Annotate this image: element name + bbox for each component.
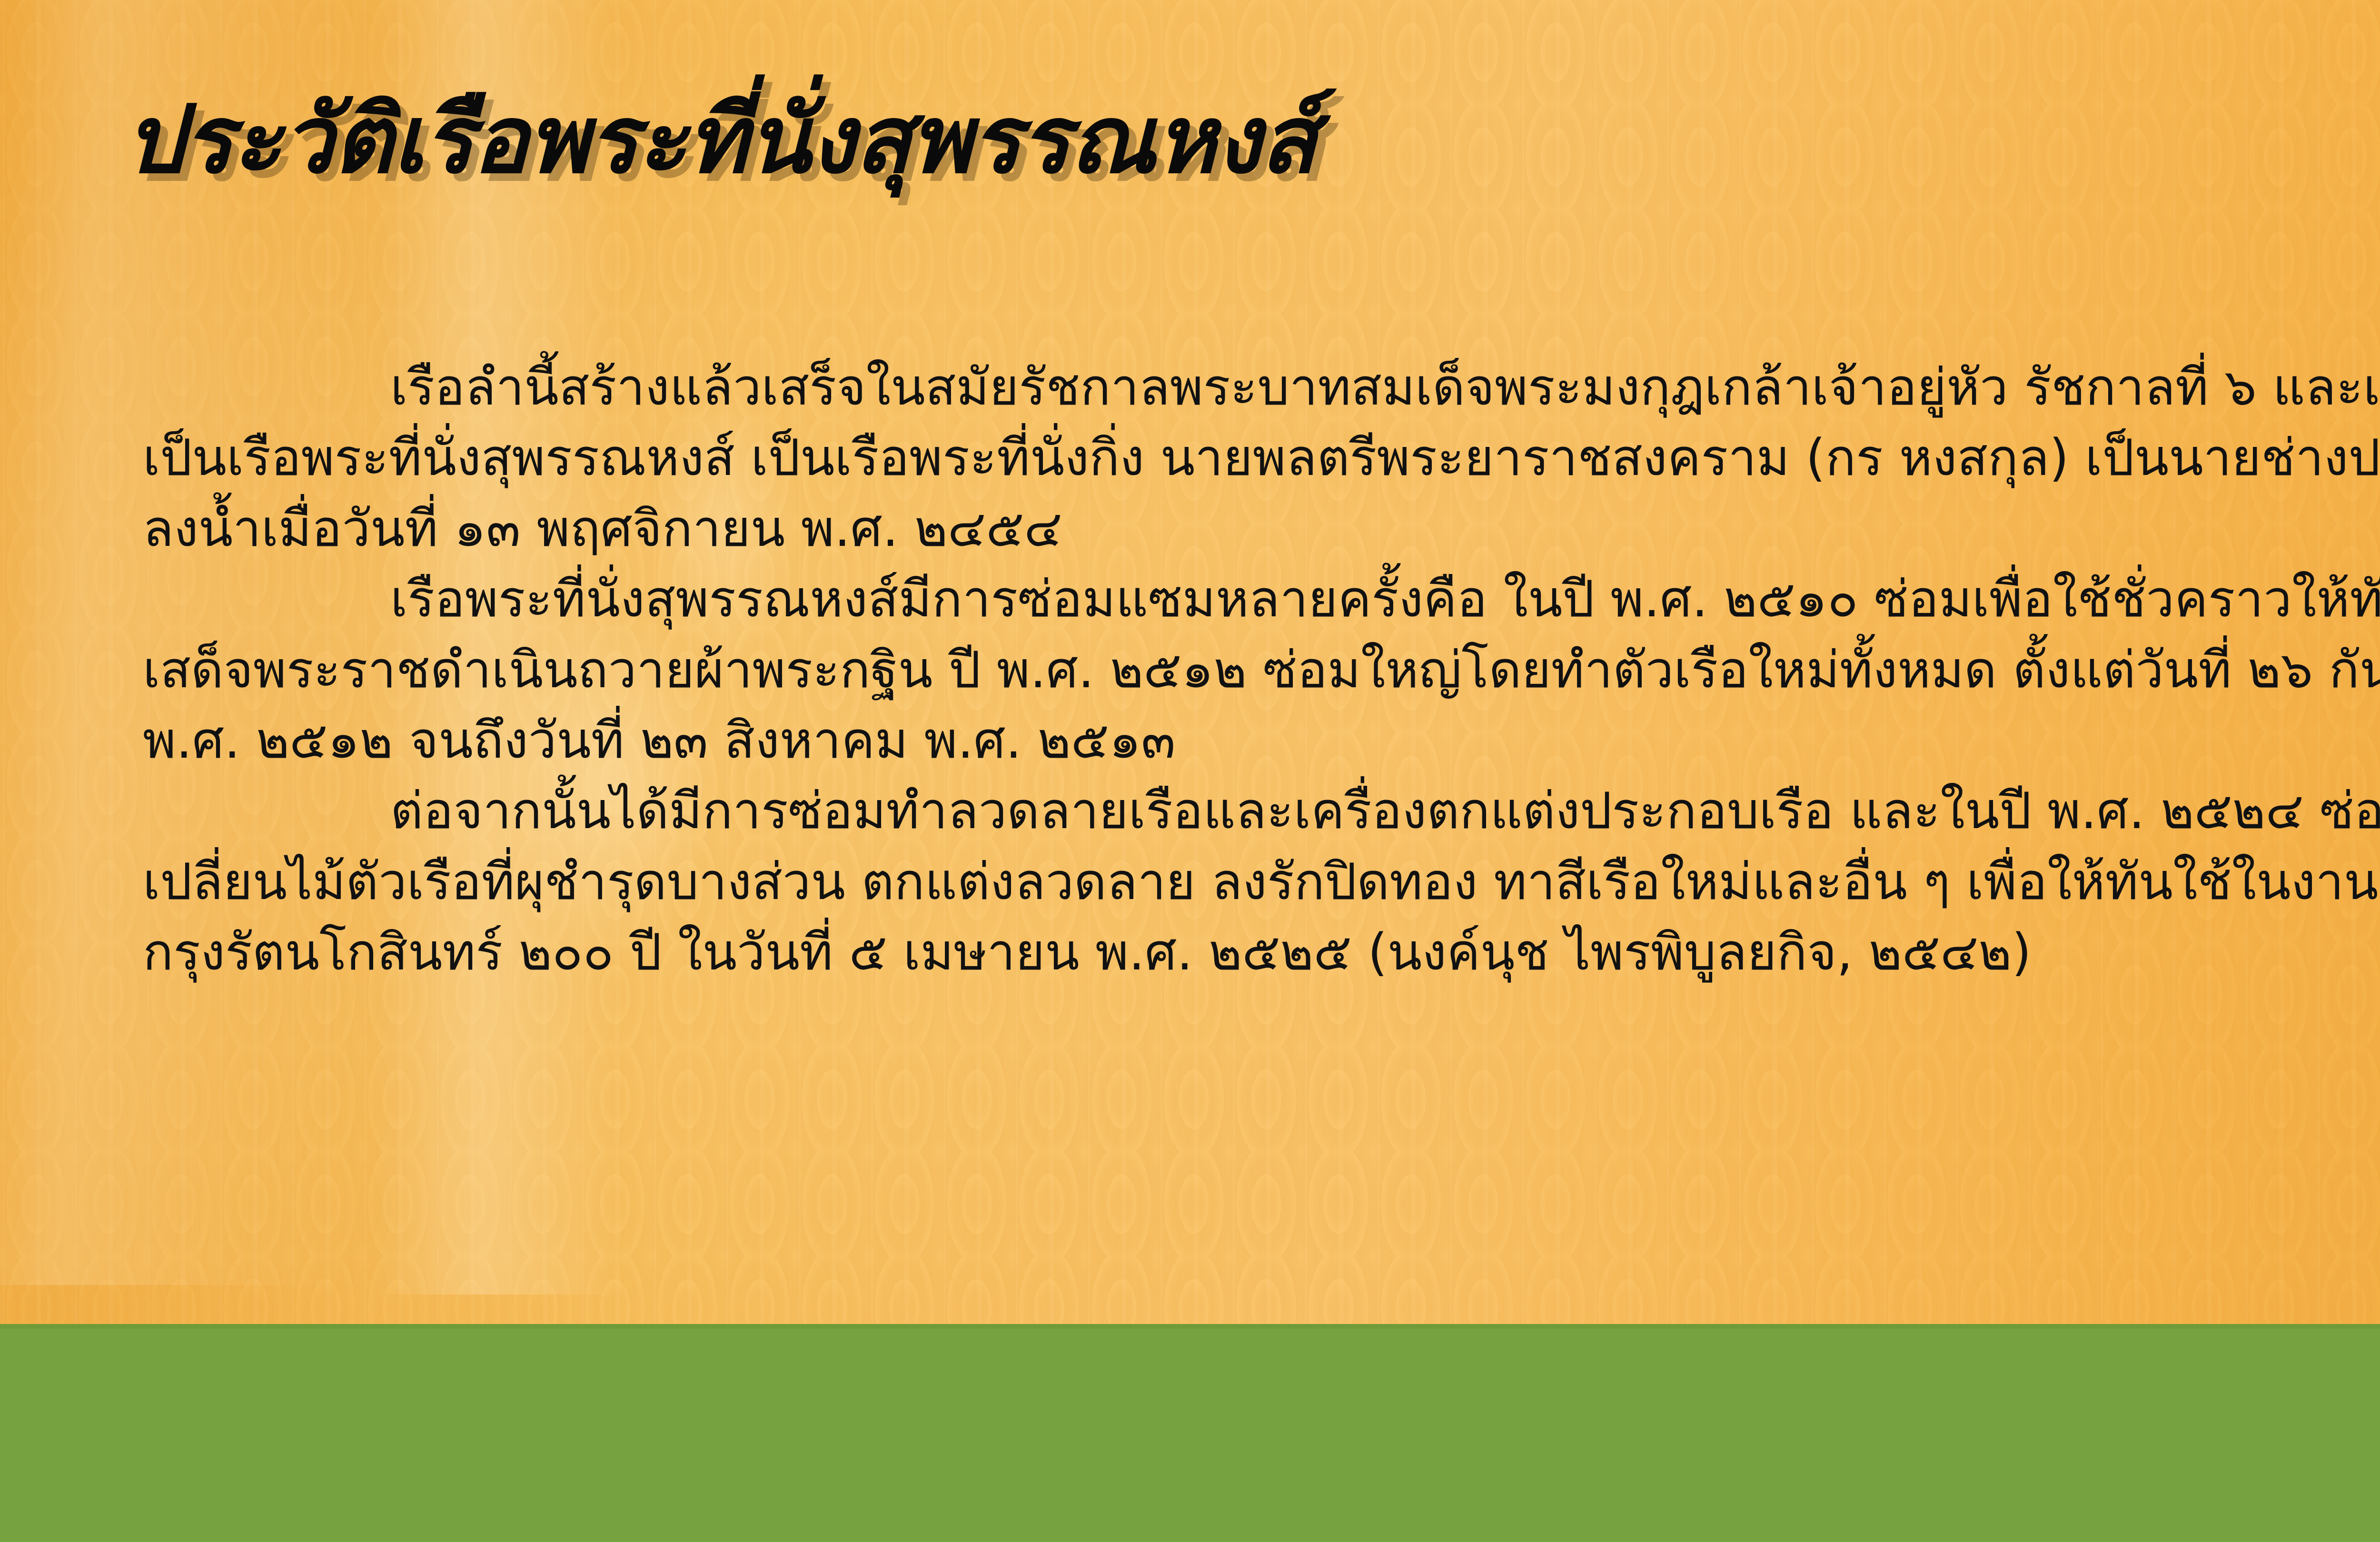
body-paragraph-2: เรือพระที่นั่งสุพรรณหงส์มีการซ่อมแซมหลาย…	[143, 564, 2380, 776]
body-paragraph-3: ต่อจากนั้นได้มีการซ่อมทำลวดลายเรือและเคร…	[143, 776, 2380, 988]
slide-canvas: ประวัติเรือพระที่นั่งสุพรรณหงส์ เรือลำนี…	[0, 0, 2380, 1542]
footer-green-bar-edge	[0, 1324, 2380, 1329]
page-title: ประวัติเรือพระที่นั่งสุพรรณหงส์	[125, 93, 2219, 187]
body-paragraph-1: เรือลำนี้สร้างแล้วเสร็จในสมัยรัชกาลพระบา…	[143, 352, 2380, 564]
footer-green-bar	[0, 1324, 2380, 1542]
slide-body-text: เรือลำนี้สร้างแล้วเสร็จในสมัยรัชกาลพระบา…	[143, 352, 2380, 988]
